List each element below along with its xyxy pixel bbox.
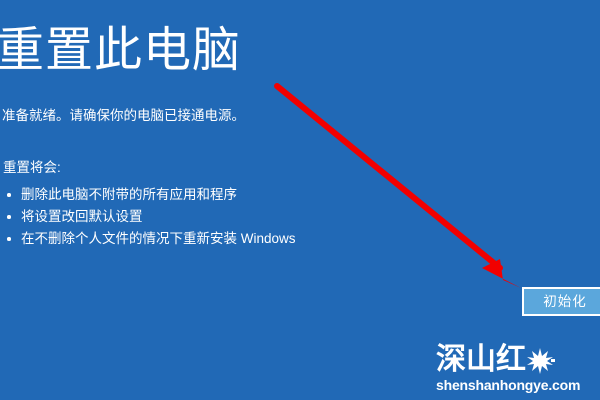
bullet-dot-icon xyxy=(7,193,11,197)
list-item: 删除此电脑不附带的所有应用和程序 xyxy=(3,184,296,206)
watermark-brand-text: 深山红 xyxy=(436,344,526,376)
list-item-label: 在不删除个人文件的情况下重新安装 Windows xyxy=(21,231,296,246)
subtitle-text: 准备就绪。请确保你的电脑已接通电源。 xyxy=(2,106,245,126)
red-arrow-icon xyxy=(277,86,521,288)
reset-pc-screen: 重置此电脑 准备就绪。请确保你的电脑已接通电源。 重置将会: 删除此电脑不附带的… xyxy=(0,0,600,400)
maple-leaf-icon xyxy=(525,345,555,375)
reset-effects-heading: 重置将会: xyxy=(3,158,61,178)
list-item: 将设置改回默认设置 xyxy=(3,206,296,228)
watermark: 深山红 shenshanhongye.com xyxy=(436,344,596,394)
watermark-logo: 深山红 xyxy=(436,344,596,376)
bullet-dot-icon xyxy=(7,215,11,219)
list-item-label: 将设置改回默认设置 xyxy=(21,209,143,224)
reset-effects-list: 删除此电脑不附带的所有应用和程序 将设置改回默认设置 在不删除个人文件的情况下重… xyxy=(3,184,296,250)
page-title: 重置此电脑 xyxy=(0,22,241,80)
list-item: 在不删除个人文件的情况下重新安装 Windows xyxy=(3,228,296,250)
list-item-label: 删除此电脑不附带的所有应用和程序 xyxy=(21,187,237,202)
initialize-button[interactable]: 初始化 xyxy=(522,287,600,316)
bullet-dot-icon xyxy=(7,237,11,241)
watermark-url: shenshanhongye.com xyxy=(436,377,596,394)
